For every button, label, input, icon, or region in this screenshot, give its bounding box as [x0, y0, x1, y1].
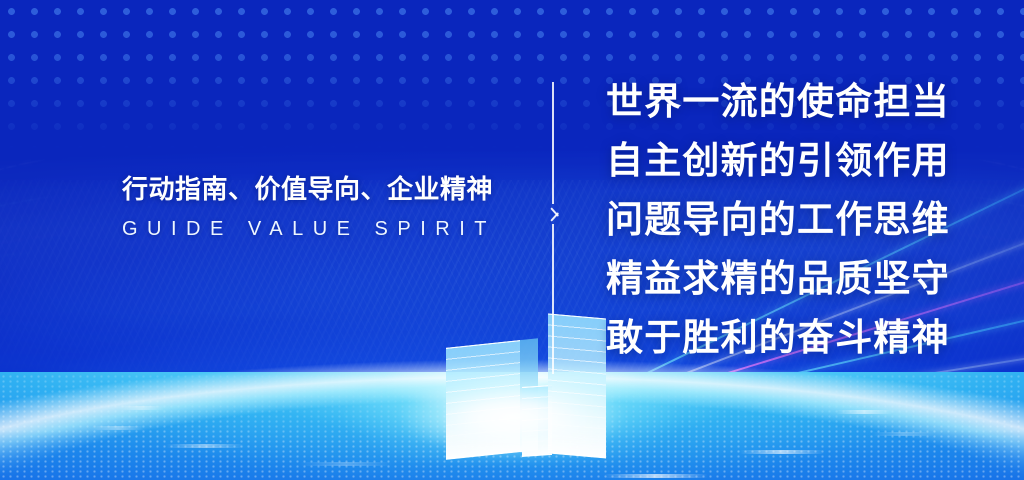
slogan-line: 敢于胜利的奋斗精神 — [606, 308, 950, 367]
ground-dash — [836, 410, 892, 414]
ground-dash — [872, 432, 934, 436]
left-heading-block: 行动指南、价值导向、企业精神 GUIDE VALUE SPIRIT — [122, 176, 496, 241]
slogan-line: 问题导向的工作思维 — [606, 190, 950, 249]
page-subtitle: GUIDE VALUE SPIRIT — [122, 218, 496, 241]
slogan-line: 自主创新的引领作用 — [606, 131, 950, 190]
chevron-right-icon — [551, 203, 561, 225]
divider-segment-bottom — [552, 224, 554, 374]
corporate-culture-banner: 行动指南、价值导向、企业精神 GUIDE VALUE SPIRIT 世界一流的使… — [0, 0, 1024, 480]
ground-dash — [740, 450, 824, 454]
slogan-list: 世界一流的使命担当自主创新的引领作用问题导向的工作思维精益求精的品质坚守敢于胜利… — [606, 72, 950, 367]
page-title: 行动指南、价值导向、企业精神 — [122, 176, 496, 202]
ground-dash — [300, 462, 392, 466]
ground-dash — [604, 474, 708, 478]
vertical-divider — [546, 82, 560, 374]
ground-dash — [166, 444, 244, 448]
slogan-line: 世界一流的使命担当 — [606, 72, 950, 131]
divider-segment-top — [552, 82, 554, 204]
ground-dash — [120, 406, 164, 410]
slogan-line: 精益求精的品质坚守 — [606, 249, 950, 308]
ground-dash — [92, 426, 144, 430]
